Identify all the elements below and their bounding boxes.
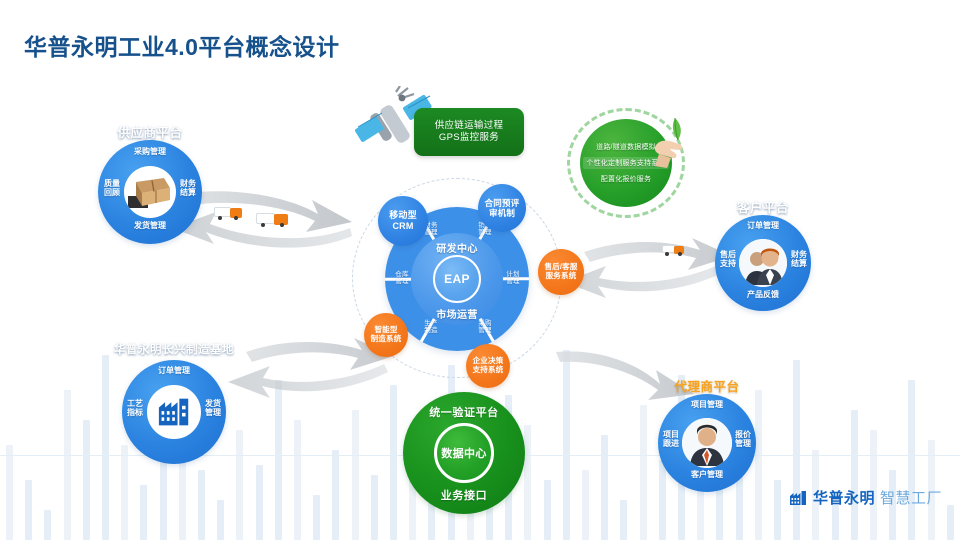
background-bar [793,360,800,540]
agent-platform-bottom-label: 客户管理 [677,471,737,480]
bubble-enterprise-decision-support[interactable]: 企业决策 支持系统 [466,344,510,388]
supplier-platform-left-label: 质量 回顾 [100,180,124,198]
bubble-contract-review[interactable]: 合同预评 审机制 [478,184,526,232]
background-bar [544,480,551,540]
agent-platform-left-label: 项目 跟进 [659,431,683,449]
background-bar [947,505,954,540]
bubble-intelligent-manufacturing-system[interactable]: 智能型 制造系统 [364,313,408,357]
two-business-people-icon [739,239,787,287]
manufacturing-base-left-label: 工艺 指标 [123,400,147,418]
manufacturing-base-title: 华普永明长兴制造基地 [114,341,234,357]
agent-platform-right-label: 报价 管理 [731,431,755,449]
customer-platform-node[interactable]: 客户平台 订单管理 售后 支持 财务 结算 产品反馈 [715,215,811,311]
truck-icon-1 [214,206,244,222]
gps-line-2: GPS监控服务 [439,132,499,144]
agent-platform-top-label: 项目管理 [677,401,737,410]
manufacturing-base-center-icon [147,385,201,439]
customer-platform-top-label: 订单管理 [733,222,793,231]
customer-platform-left-label: 售后 支持 [716,251,740,269]
bubble-aftersales-service-system[interactable]: 售后/客服 服务系统 [538,249,584,295]
supplier-platform-title: 供应商平台 [117,122,182,141]
businessman-icon [682,418,732,468]
supplier-platform-center-icon [124,166,176,218]
factory-logo-icon [788,488,808,508]
background-bar [64,390,71,540]
background-bar [352,410,359,540]
data-center-node[interactable]: 统一验证平台 数据中心 业务接口 [403,392,525,514]
manufacturing-base-node[interactable]: 华普永明长兴制造基地 订单管理 工艺 指标 发货 管理 [122,360,226,464]
customer-platform-bottom-label: 产品反馈 [733,291,793,300]
manufacturing-base-top-label: 订单管理 [142,367,206,376]
background-bar [275,380,282,540]
background-bar [640,405,647,540]
background-bar [332,450,339,540]
background-bar [563,350,570,540]
custom-service-node: 道路/隧道数据模拟 个性化定制服务支持系统 配置化报价服务 [567,108,685,218]
data-center-top-label: 统一验证平台 [403,404,525,420]
supplier-platform-node[interactable]: 供应商平台 采购管理 质量 回顾 财务 结算 发货管理 [98,140,202,244]
slide-canvas: 华普永明工业4.0平台概念设计 [0,0,960,540]
data-center-core: 数据中心 [434,423,494,483]
gps-line-1: 供应链运输过程 [435,120,504,132]
background-bar [236,430,243,540]
page-title: 华普永明工业4.0平台概念设计 [24,28,339,62]
supplier-platform-right-label: 财务 结算 [176,180,200,198]
hub-segment-purchase: 采购 管理 [472,320,498,335]
background-bar [620,500,627,540]
hand-holding-leaf-icon [645,114,693,174]
background-bar [582,470,589,540]
hub-inner-bottom-label: 市场运营 [411,306,503,321]
footer-brand: 华普永明 [813,487,875,508]
hub-core-eap: EAP [433,255,481,303]
data-center-bottom-label: 业务接口 [403,487,525,503]
truck-icon-3 [662,244,686,257]
customer-platform-center-icon [739,239,787,287]
background-bar [44,510,51,540]
background-bar [140,485,147,540]
footer-suffix: 智慧工厂 [880,487,942,508]
manufacturing-base-right-label: 发货 管理 [201,400,225,418]
background-bar [83,420,90,540]
background-bar [870,430,877,540]
supplier-platform-top-label: 采购管理 [118,148,182,157]
factory-icon [150,385,198,439]
truck-icon-2 [256,212,290,230]
hub-segment-production: 生产 制造 [418,320,444,335]
background-bar [6,445,13,540]
supplier-platform-bottom-label: 发货管理 [118,222,182,231]
background-bar [371,475,378,540]
background-bar [524,425,531,540]
background-bar [601,435,608,540]
cardboard-boxes-icon [124,166,176,218]
background-bar [217,500,224,540]
background-bar [851,410,858,540]
background-bar [198,470,205,540]
hub-segment-plan: 计划 管理 [500,271,526,286]
background-bar [390,385,397,540]
background-bar [908,380,915,540]
customer-platform-title: 客户平台 [737,197,789,216]
background-bar [313,495,320,540]
footer-logo: 华普永明 智慧工厂 [788,487,942,508]
hub-inner-top-label: 研发中心 [411,240,503,255]
bubble-mobile-crm[interactable]: 移动型 CRM [378,196,428,246]
background-bar [294,420,301,540]
customer-platform-right-label: 财务 结算 [787,251,811,269]
background-bar [25,480,32,540]
background-bar [774,480,781,540]
gps-monitoring-badge: 供应链运输过程 GPS监控服务 [414,108,524,156]
background-bar [697,485,704,540]
agent-platform-center-icon [682,418,732,468]
custom-service-item-2: 配置化报价服务 [601,174,651,184]
agent-platform-node[interactable]: 代理商平台 项目管理 项目 跟进 报价 管理 客户管理 [658,394,756,492]
background-bar [102,355,109,540]
background-bar [256,465,263,540]
agent-platform-title: 代理商平台 [674,376,739,395]
